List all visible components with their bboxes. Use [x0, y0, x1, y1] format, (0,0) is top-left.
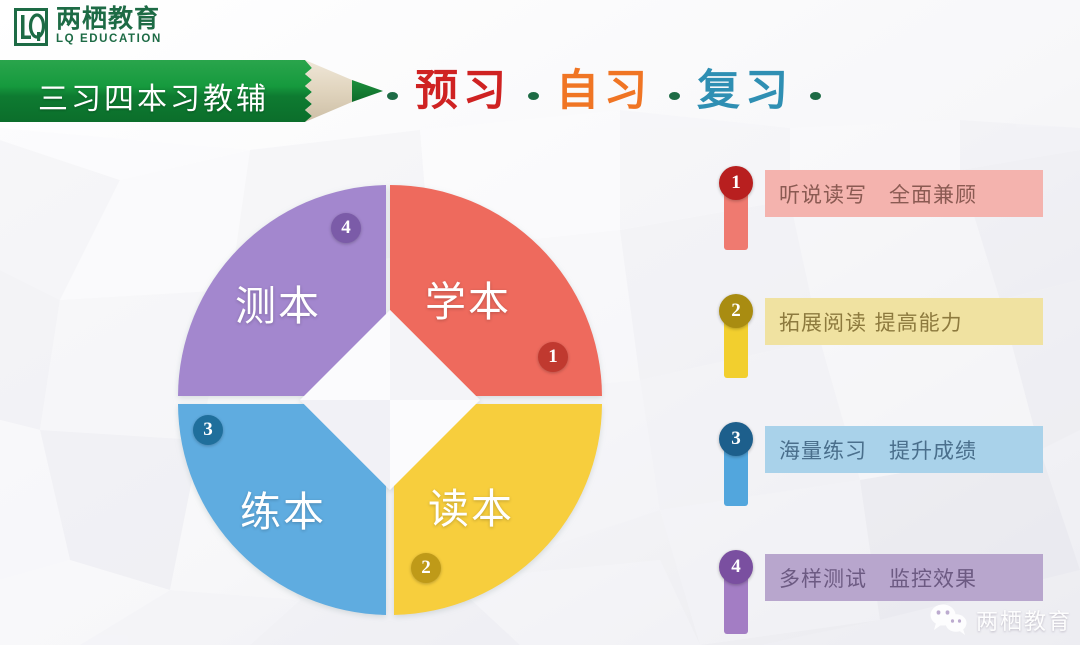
slide-canvas: 两栖教育 LQ EDUCATION 三习四 [0, 0, 1080, 645]
four-segment-donut-chart: 学本 读本 练本 测本 1 2 3 4 [150, 160, 630, 640]
donut-svg [150, 160, 630, 640]
list-item-bar: 多样测试 监控效果 [765, 554, 1043, 601]
list-item[interactable]: 1 听说读写 全面兼顾 [712, 170, 1062, 280]
brand-name-en: LQ EDUCATION [56, 33, 162, 47]
wechat-icon [929, 603, 969, 637]
segment-label-duben: 读本 [428, 475, 514, 535]
segment-badge-4[interactable]: 4 [331, 213, 361, 243]
list-item-number-1[interactable]: 1 [719, 166, 753, 200]
list-item-text-2: 拓展阅读 提高能力 [765, 307, 963, 337]
keyword-review: 复习 [697, 70, 793, 113]
list-item[interactable]: 3 海量练习 提升成绩 [712, 426, 1062, 536]
feature-list: 1 听说读写 全面兼顾 2 拓展阅读 提高能力 3 海量练习 提升成绩 4 多样… [712, 170, 1062, 620]
list-item-bar: 拓展阅读 提高能力 [765, 298, 1043, 345]
segment-badge-2[interactable]: 2 [411, 553, 441, 583]
list-item-bar: 听说读写 全面兼顾 [765, 170, 1043, 217]
segment-label-xueben: 学本 [425, 268, 511, 328]
brand-name-cn: 两栖教育 [56, 6, 162, 32]
separator-dot-icon [387, 92, 398, 100]
brand-logo: 两栖教育 LQ EDUCATION [14, 6, 162, 47]
keyword-selfstudy: 自习 [556, 70, 652, 113]
list-item-number-4[interactable]: 4 [719, 550, 753, 584]
list-item-text-3: 海量练习 提升成绩 [765, 435, 977, 465]
wechat-account-name: 两栖教育 [976, 604, 1072, 636]
list-item[interactable]: 2 拓展阅读 提高能力 [712, 298, 1062, 408]
lq-bracket-logo-icon [14, 8, 48, 46]
separator-dot-icon [528, 92, 539, 100]
list-item-text-4: 多样测试 监控效果 [765, 563, 977, 593]
segment-label-lianben: 练本 [240, 478, 326, 538]
keyword-preview: 预习 [415, 70, 511, 113]
pencil-banner-label: 三习四本习教辅 [38, 74, 269, 118]
segment-badge-3[interactable]: 3 [193, 415, 223, 445]
separator-dot-icon [810, 92, 821, 100]
list-item-number-2[interactable]: 2 [719, 294, 753, 328]
segment-label-ceben: 测本 [235, 272, 321, 332]
header-keywords: 预习 自习 复习 [370, 62, 838, 124]
list-item-text-1: 听说读写 全面兼顾 [765, 179, 977, 209]
list-item-number-3[interactable]: 3 [719, 422, 753, 456]
list-item-bar: 海量练习 提升成绩 [765, 426, 1043, 473]
wechat-watermark: 两栖教育 [929, 603, 1072, 637]
separator-dot-icon [669, 92, 680, 100]
segment-badge-1[interactable]: 1 [538, 342, 568, 372]
